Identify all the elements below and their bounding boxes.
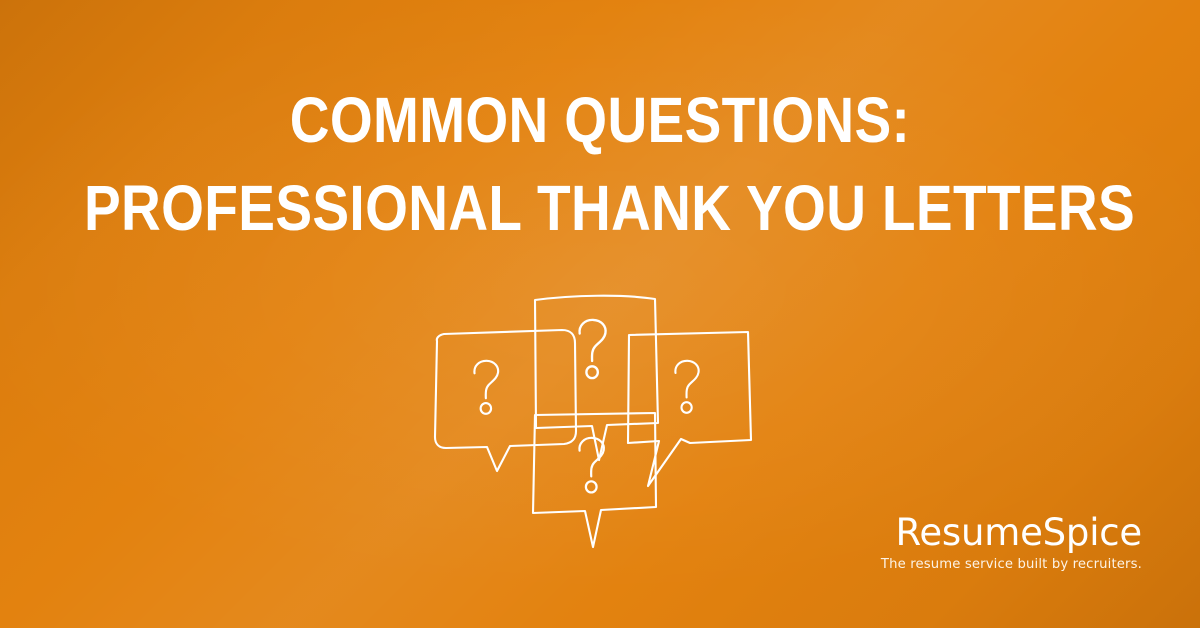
bubble-left-question-mark xyxy=(474,361,498,414)
social-share-card: COMMON QUESTIONS: PROFESSIONAL THANK YOU… xyxy=(0,0,1200,628)
resumespice-logo[interactable]: ResumeSpice The resume service built by … xyxy=(881,512,1142,574)
bubble-bottom-question-mark xyxy=(579,438,603,493)
title-line-1: COMMON QUESTIONS: xyxy=(84,76,1116,164)
title-line-2: PROFESSIONAL THANK YOU LETTERS xyxy=(84,164,1116,252)
page-title: COMMON QUESTIONS: PROFESSIONAL THANK YOU… xyxy=(0,76,1200,252)
logo-tagline: The resume service built by recruiters. xyxy=(881,555,1142,574)
bubble-right-shape xyxy=(628,332,751,486)
bubble-right-question-mark xyxy=(675,361,698,413)
question-bubbles-illustration xyxy=(415,282,785,554)
bubble-top-center-question-mark xyxy=(580,320,606,378)
bubble-left-shape xyxy=(435,330,576,471)
logo-wordmark: ResumeSpice xyxy=(881,512,1142,554)
